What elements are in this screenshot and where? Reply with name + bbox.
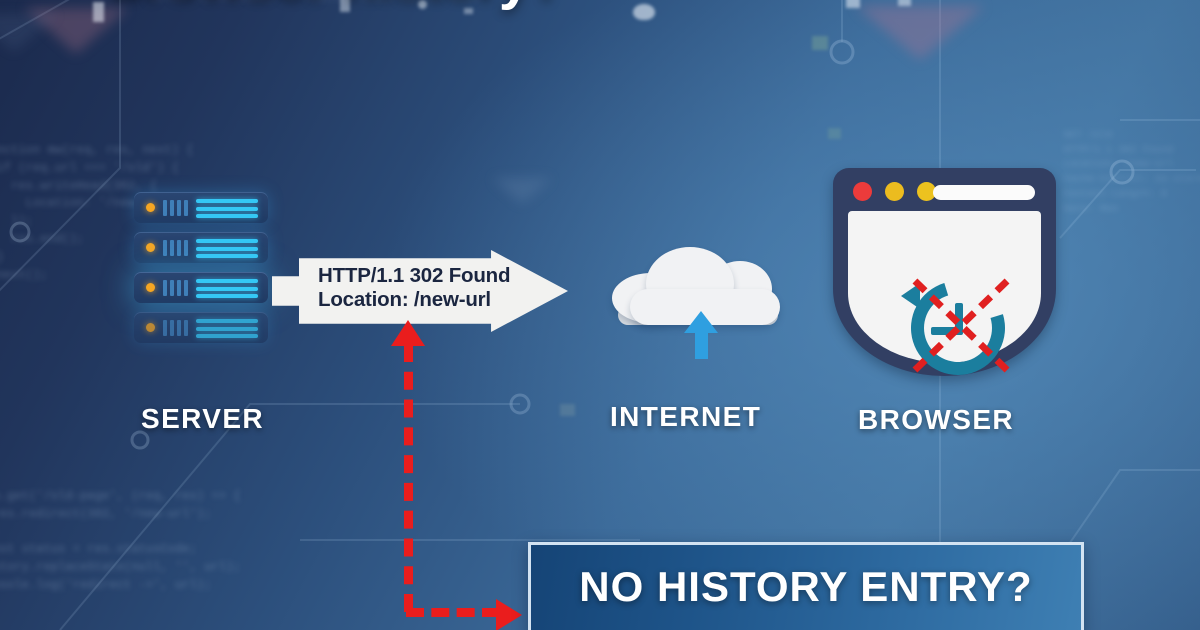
server-data-lines — [196, 319, 258, 338]
glyph-fragment — [812, 36, 828, 50]
server-rack-unit — [134, 232, 268, 263]
glyph-fragment — [560, 404, 575, 416]
triangle-decoration — [856, 6, 984, 60]
poster-canvas: function mw(req, res, next) { if (req.ur… — [0, 0, 1200, 630]
server-vent-bars — [163, 240, 188, 256]
server-vent-bars — [163, 280, 188, 296]
upload-arrow-icon — [684, 311, 718, 359]
server-led-icon — [146, 203, 155, 212]
browser-frame — [833, 168, 1056, 376]
server-led-icon — [146, 283, 155, 292]
minimize-dot-icon — [885, 182, 904, 201]
server-data-lines — [196, 279, 258, 298]
server-icon — [134, 192, 290, 352]
http-response-text: HTTP/1.1 302 Found Location: /new-url — [318, 264, 510, 312]
triangle-decoration — [492, 178, 552, 204]
label-internet: INTERNET — [610, 401, 761, 433]
browser-url-bar — [933, 185, 1035, 200]
glyph-fragment — [93, 2, 104, 22]
http-location-header: Location: /new-url — [318, 288, 510, 312]
server-rack-unit — [134, 312, 268, 343]
server-data-lines — [196, 199, 258, 218]
page-title-line-2: browser history? — [110, 0, 970, 9]
server-data-lines — [196, 239, 258, 258]
path-horizontal-segment — [406, 608, 500, 617]
glyph-fragment — [828, 128, 841, 139]
background-code-text: app.get('/old-page', (req, res) => { res… — [0, 488, 241, 595]
browser-traffic-light-dots — [853, 182, 936, 201]
cloud-icon — [612, 235, 792, 355]
triangle-decoration — [0, 14, 58, 52]
label-server: SERVER — [141, 403, 264, 435]
page-title: browser history? — [110, 0, 970, 9]
close-dot-icon — [853, 182, 872, 201]
redirect-feedback-path — [392, 322, 532, 630]
server-vent-bars — [163, 200, 188, 216]
background-code-text: GET /old HTTP/1.1 302 Found Location: /n… — [1064, 128, 1200, 216]
path-vertical-segment — [404, 344, 413, 612]
path-arrow-up-icon — [391, 320, 425, 346]
server-rack-unit — [134, 192, 268, 223]
no-history-entry-banner: NO HISTORY ENTRY? — [528, 542, 1084, 630]
server-led-icon — [146, 243, 155, 252]
browser-viewport — [848, 211, 1041, 363]
server-led-icon — [146, 323, 155, 332]
server-vent-bars — [163, 320, 188, 336]
server-rack-unit — [134, 272, 268, 303]
banner-text: NO HISTORY ENTRY? — [531, 563, 1081, 611]
label-browser: BROWSER — [858, 404, 1014, 436]
arrow-stem — [695, 325, 708, 359]
http-status-line: HTTP/1.1 302 Found — [318, 264, 510, 288]
path-arrow-right-icon — [496, 599, 522, 630]
browser-window-icon — [833, 168, 1056, 376]
